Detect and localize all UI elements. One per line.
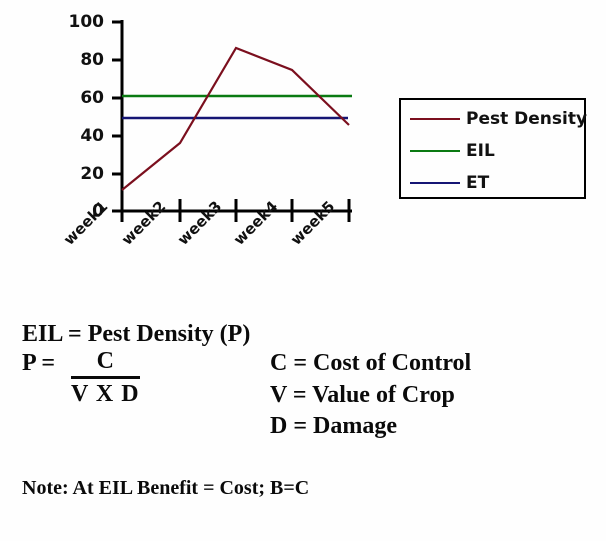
chart-plot-svg (0, 0, 380, 300)
legend-item-eil: EIL (401, 138, 584, 164)
legend-swatch-pest-density-icon (410, 118, 460, 120)
eil-definition-line: EIL = Pest Density (P) (22, 320, 582, 348)
formula-block: EIL = Pest Density (P) P = C V X D C = C… (22, 320, 582, 424)
formula-row: P = C V X D C = Cost of Control V = Valu… (22, 348, 582, 424)
legend-item-pest-density: Pest Density (401, 106, 584, 132)
chart-legend: Pest Density EIL ET (399, 98, 586, 199)
definition-value-of-crop: V = Value of Crop (270, 380, 471, 411)
y-tick-label-40: 40 (52, 128, 104, 145)
legend-label-pest-density: Pest Density (466, 109, 587, 129)
legend-label-et: ET (466, 173, 489, 193)
y-tick-label-20: 20 (52, 166, 104, 183)
line-chart: 100 80 60 40 20 0 week1 week2 week3 week… (0, 0, 380, 300)
figure-canvas: 100 80 60 40 20 0 week1 week2 week3 week… (0, 0, 606, 541)
y-tick-label-80: 80 (52, 52, 104, 69)
equation-left-side: P = (22, 348, 55, 377)
fraction: C V X D (71, 348, 140, 407)
note-text: Note: At EIL Benefit = Cost; B=C (22, 477, 309, 500)
definition-damage: D = Damage (270, 411, 471, 442)
y-tick-label-60: 60 (52, 90, 104, 107)
legend-label-eil: EIL (466, 141, 495, 161)
pest-density-equation: P = C V X D (22, 348, 140, 407)
fraction-denominator: V X D (71, 379, 140, 407)
variable-definitions: C = Cost of Control V = Value of Crop D … (270, 348, 471, 442)
legend-swatch-eil-icon (410, 150, 460, 152)
legend-item-et: ET (401, 170, 584, 196)
definition-cost-of-control: C = Cost of Control (270, 348, 471, 379)
y-tick-label-100: 100 (52, 14, 104, 31)
legend-swatch-et-icon (410, 182, 460, 184)
fraction-numerator: C (71, 348, 140, 378)
